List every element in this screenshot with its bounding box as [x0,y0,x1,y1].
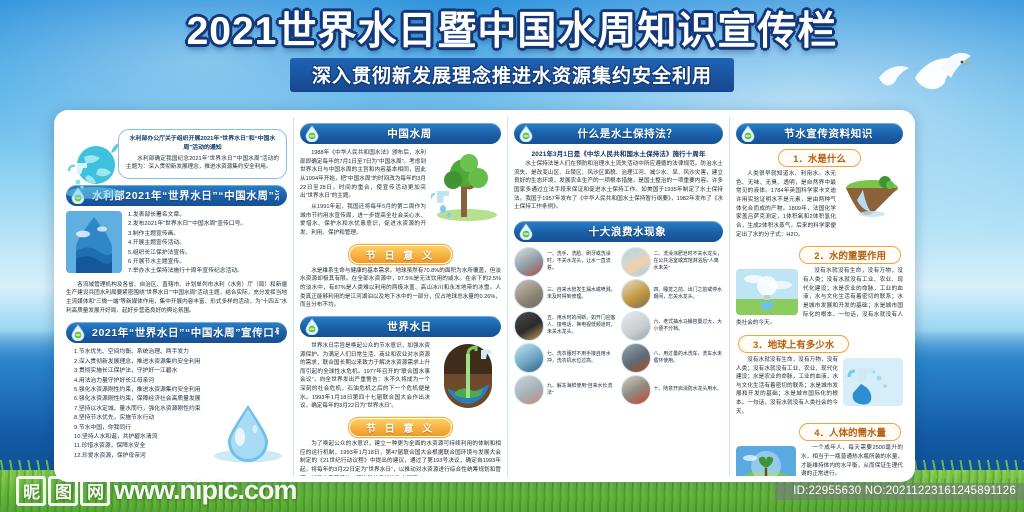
water-drop-icon [518,223,534,240]
item-text: 九、解冻海鲜使用“自来水长流法” [547,383,617,397]
title-area: 2021世界水日暨中国水周知识宣传栏 深入贯彻新发展理念推进水资源集约安全利用 [0,12,1024,92]
item-text: 十、随意开启消防水龙头用水。 [654,386,722,393]
dove-icon-small [875,60,913,90]
light-bulb-water-photo [736,269,798,315]
list-item: 一、洗手、洗脸、刷牙或洗澡时，不关水龙头，让水一直流着。 [514,247,617,277]
list-item: 五、用水时的间断，如开门迎客人、接电话、换电视低频道时，未关水龙头。 [514,311,617,341]
list-item: 7.举办水土保持法施行十周年宣传纪念活动。 [128,267,287,276]
content-board: 水利部办公厅关于组织开展2021年“世界水日”和“中国水周”活动的通知 水利部确… [54,110,915,482]
list-item: 九、解冻海鲜使用“自来水长流法” [514,375,617,405]
item-text: 六、老式抽水马桶容量过大，大小便不分档。 [654,319,724,333]
list-item: 八、用过量的水洗车，洗车水未循环使用。 [621,343,724,373]
section-title: 十大浪费水现象 [540,224,715,239]
water-drop-icon [304,125,320,142]
brass-faucet-photo [621,279,651,309]
list-item: 1.节水优先、空间均衡、系统治理、两手发力 [74,348,287,357]
watermark-cn-3: 网 [80,476,110,506]
section-header-world-water-day: 世界水日 [300,316,501,337]
old-toilet-photo [621,311,651,341]
wasteful-water-grid: 一、洗手、洗脸、刷牙或洗澡时，不关水龙头，让水一直流着。 二、洗澡涂肥皂时不关水… [514,247,723,405]
knowledge-head-1: 1．水是什么 [778,149,861,167]
watermark-cn-1: 昵 [16,476,46,506]
page-title: 2021世界水日暨中国水周知识宣传栏 [0,12,1024,53]
watermark-cn-2: 图 [48,476,78,506]
site-watermark: 昵 图 网 www.nipic.com [16,475,297,506]
festival-meaning-badge-1: 节 日 意 义 [349,245,452,264]
kitchen-faucet-photo [514,311,544,341]
arrangement-list: 1.发表部长署名文章。 2.发布2021年“世界水日”“中国水周”宣传口号。 3… [128,211,287,277]
item-text: 三、自来水管发生漏水或喷溅，未及时得到修理。 [547,287,617,301]
water-droplet-splash-illustration [211,399,285,465]
list-item: 5.组织长江保护法宣传。 [128,249,287,258]
festival-meaning-badge-2: 节 日 意 义 [349,418,452,437]
list-item: 4.用法治力量守护好长江母亲河 [74,377,287,386]
list-item: 3.制作主题宣传画。 [128,230,287,239]
notice-body: 水利部确定我国纪念2021年“世界水日”“中国水周”活动的主题为：深入贯彻新发展… [126,155,279,172]
water-week-p3: 水是维系生命与健康的基本需求。地球虽然有70.8%的面积为水所覆盖，但淡水资源却… [300,267,501,310]
list-item: 6.开展节水主题宣传。 [128,258,287,267]
section-title: 中国水周 [326,126,493,141]
sink-brushing-teeth-photo [514,247,544,277]
tree-faucet-illustration [431,151,501,223]
list-item: 5.强化水资源刚性约束，推进水资源集约安全利用 [74,386,287,395]
tree-heart-globe-photo [736,446,796,476]
earth-cross-section-illustration [435,344,501,408]
item-text: 八、用过量的水洗车，洗车水未循环使用。 [654,351,724,365]
list-item: 七、洗衣服时不用手接自用水冲，洗衣机水位过高。 [514,343,617,373]
column-water-saving-knowledge: 节水宣传资料知识 1．水是什么 人类很早就知道水、利用水。水无色、无味、无臭、透… [729,117,909,476]
water-drop-icon [304,318,320,335]
car-washing-photo [621,343,651,373]
world-water-day-p5: 为了唤起公众的水意识，建立一种更为全面的水资源可持续利用的体制和相应的运行机制，… [300,440,501,476]
list-item: 四、睡觉之前、出门之前或停水期间，忘关水龙头。 [621,279,724,309]
knowledge-head-3: 3．地球上有多少水 [738,335,849,353]
column-policy: 水利部办公厅关于组织开展2021年“世界水日”和“中国水周”活动的通知 水利部确… [60,117,293,476]
item-text: 二、洗澡涂肥皂时不关水龙头，在公共浴室或宾馆淋浴后“人离水未关” [654,251,724,272]
list-item: 1.发表部长署名文章。 [128,211,287,220]
washing-machine-photo [514,343,544,373]
water-drop-icon [70,324,86,341]
fire-hydrant-photo [621,375,651,405]
notice-title: 水利部办公厅关于组织开展2021年“世界水日”和“中国水周”活动的通知 [126,135,279,153]
leaking-pipe-photo [514,279,544,309]
list-item: 2.深入贯彻新发展理念，推进水资源集约安全利用 [74,358,287,367]
child-shower-photo [621,247,651,277]
floating-island-waterfall-photo [841,172,903,220]
column-water-week: 中国水周 1988年《中华人民共和国水法》颁布后，水利部即确定每年的7月1日至7… [293,117,507,476]
water-drop-icon [740,125,756,142]
soil-law-paragraph: 水土保持法是人们在预防和治理水土流失活动中所应遵循的法律规范。防治水土流失，是改… [514,160,723,212]
subtitle-band: 深入贯彻新发展理念推进水资源集约安全利用 [290,58,734,92]
item-text: 七、洗衣服时不用手接自用水冲，洗衣机水位过高。 [547,351,617,365]
faucet-blue-hands-photo [843,358,903,406]
section-title: 节水宣传资料知识 [762,126,895,141]
list-item: 3.贯彻实施长江保护法，守护好一江碧水 [74,367,287,376]
water-drop-icon [518,125,534,142]
list-item: 六、老式抽水马桶容量过大，大小便不分档。 [621,311,724,341]
list-item: 三、自来水管发生漏水或喷溅，未及时得到修理。 [514,279,617,309]
list-item: 2.发布2021年“世界水日”“中国水周”宣传口号。 [128,220,287,229]
soil-law-lead: 2021年3月1日是《中华人民共和国水土保持法》施行十周年 [514,149,723,158]
section-header-china-water-week: 中国水周 [300,123,501,144]
watermark-url: www.nipic.com [114,475,297,506]
section-header-ten-wasteful: 十大浪费水现象 [514,221,723,242]
section-title: 什么是水土保持法？ [540,126,715,141]
list-item: 4.开展主题宣传活动。 [128,239,287,248]
watermark-logo: 昵 图 网 [16,476,110,506]
thawing-faucet-photo [514,375,544,405]
list-item: 二、洗澡涂肥皂时不关水龙头，在公共浴室或宾馆淋浴后“人离水未关” [621,247,724,277]
drop-graphic [66,211,122,273]
section-header-slogans: 2021年“世界水日”“中国水周”宣传口号 [66,322,287,343]
policy-paragraph: 各流域管理机构及各省、自治区、直辖市、计划单列市水利（水务）厅（局）和新疆生产建… [66,281,287,316]
item-text: 一、洗手、洗脸、刷牙或洗澡时，不关水龙头，让水一直流着。 [547,251,617,272]
knowledge-head-2: 2．水的重要作用 [799,246,901,264]
section-title: 2021年“世界水日”“中国水周”宣传口号 [92,325,279,340]
water-drop-image [66,211,122,273]
column-soil-conservation: 什么是水土保持法？ 2021年3月1日是《中华人民共和国水土保持法》施行十周年 … [507,117,729,476]
knowledge-head-4: 4．人体的需水量 [799,423,901,441]
list-item: 十、随意开启消防水龙头用水。 [621,375,724,405]
item-text: 四、睡觉之前、出门之前或停水期间，忘关水龙头。 [654,287,724,301]
page-subtitle: 深入贯彻新发展理念推进水资源集约安全利用 [312,66,712,87]
section-header-water-saving: 节水宣传资料知识 [736,123,903,144]
image-id-bar: ID:22955630 NO:20211223161245891126 [775,483,1024,500]
section-header-soil-water-law: 什么是水土保持法？ [514,123,723,144]
section-title: 世界水日 [326,319,493,334]
item-text: 五、用水时的间断，如开门迎客人、接电话、换电视低频道时，未关水龙头。 [547,315,617,336]
arrangement-block: 1.发表部长署名文章。 2.发布2021年“世界水日”“中国水周”宣传口号。 3… [66,211,287,277]
dove-icon [905,48,975,100]
notice-bubble: 水利部办公厅关于组织开展2021年“世界水日”和“中国水周”活动的通知 水利部确… [118,129,287,179]
